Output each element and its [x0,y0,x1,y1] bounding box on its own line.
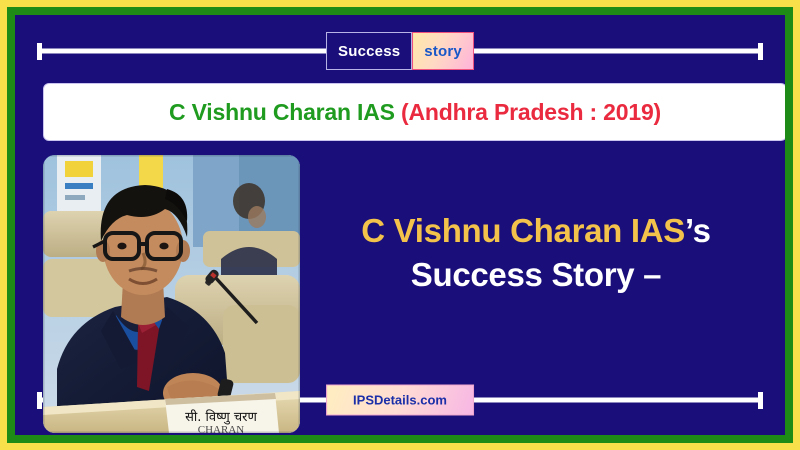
page-title: C Vishnu Charan IAS (Andhra Pradesh : 20… [169,99,661,126]
headline-block: C Vishnu Charan IAS’s Success Story – [311,210,761,299]
navy-canvas: Success story C Vishnu Charan IAS (Andhr… [15,15,785,435]
headline-name-gold: C Vishnu Charan IAS [361,212,685,249]
headline-apostrophe-s: ’s [685,212,711,249]
green-frame-border: Success story C Vishnu Charan IAS (Andhr… [7,7,793,443]
page-title-detail: (Andhra Pradesh : 2019) [401,99,661,125]
top-left-rule-icon [37,49,333,54]
brand-badge-story-label: story [412,32,474,70]
top-right-rule-icon [467,49,763,54]
bottom-right-rule-icon [461,398,763,403]
portrait-photo: सी. विष्णु चरण CHARAN [43,155,300,433]
svg-text:सी. विष्णु चरण: सी. विष्णु चरण [185,409,257,425]
brand-badge[interactable]: Success story [326,32,474,70]
page-title-name: C Vishnu Charan IAS [169,99,395,125]
site-badge[interactable]: IPSDetails.com [326,385,474,416]
top-decorative-band: Success story [15,31,785,71]
headline-line-1: C Vishnu Charan IAS’s [311,210,761,251]
title-bar: C Vishnu Charan IAS (Andhra Pradesh : 20… [43,83,785,141]
portrait-illustration: सी. विष्णु चरण CHARAN [43,155,300,433]
brand-badge-success-label: Success [326,32,412,70]
poster-root: Success story C Vishnu Charan IAS (Andhr… [0,0,800,450]
headline-line-2: Success Story – [311,251,761,299]
nameplate: सी. विष्णु चरण CHARAN [165,393,279,433]
